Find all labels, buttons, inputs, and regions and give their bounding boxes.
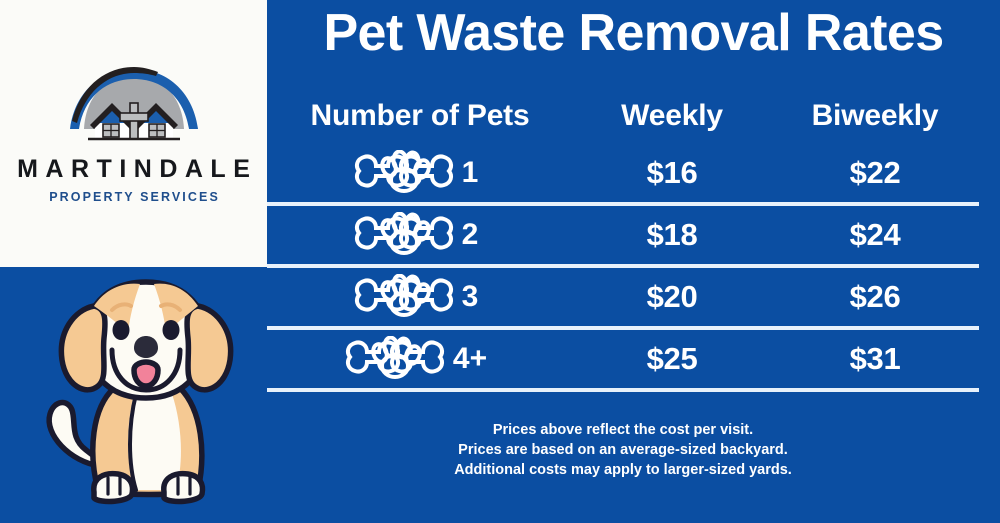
- pets-count: 4+: [453, 344, 487, 374]
- table-row: 3 $20 $26: [267, 268, 979, 330]
- biweekly-price: $22: [771, 155, 979, 191]
- company-logo-panel: MARTINDALE PROPERTY SERVICES: [0, 0, 267, 267]
- table-header-row: Number of Pets Weekly Biweekly: [267, 88, 979, 144]
- paw-and-bone-icon: [339, 336, 451, 382]
- table-row: 4+ $25 $31: [267, 330, 979, 392]
- column-header-weekly: Weekly: [573, 99, 771, 133]
- footnote-line: Prices above reflect the cost per visit.: [267, 420, 979, 440]
- weekly-price: $16: [573, 155, 771, 191]
- table-row: 2 $18 $24: [267, 206, 979, 268]
- pets-count: 1: [462, 158, 479, 188]
- weekly-price: $20: [573, 279, 771, 315]
- pets-count: 3: [462, 282, 479, 312]
- weekly-price: $18: [573, 217, 771, 253]
- biweekly-price: $31: [771, 341, 979, 377]
- logo-wordmark: MARTINDALE: [10, 157, 258, 182]
- page-title: Pet Waste Removal Rates: [267, 5, 1000, 62]
- paw-and-bone-icon: [348, 150, 460, 196]
- paw-and-bone-icon: [348, 212, 460, 258]
- footnote-line: Additional costs may apply to larger-siz…: [267, 460, 979, 480]
- footnote-line: Prices are based on an average-sized bac…: [267, 440, 979, 460]
- biweekly-price: $26: [771, 279, 979, 315]
- weekly-price: $25: [573, 341, 771, 377]
- pets-cell: 2: [267, 212, 573, 258]
- rates-table: Number of Pets Weekly Biweekly: [267, 88, 979, 392]
- table-row: 1 $16 $22: [267, 144, 979, 206]
- pets-cell: 4+: [267, 336, 573, 382]
- poster-content: Pet Waste Removal Rates Number of Pets W…: [267, 0, 1000, 523]
- pets-count: 2: [462, 220, 479, 250]
- paw-and-bone-icon: [348, 274, 460, 320]
- sitting-puppy-illustration: [30, 266, 262, 523]
- logo-tagline: PROPERTY SERVICES: [47, 191, 220, 204]
- column-header-number-of-pets: Number of Pets: [267, 99, 573, 133]
- two-houses-with-cross-icon: [50, 63, 218, 151]
- column-header-biweekly: Biweekly: [771, 99, 979, 133]
- biweekly-price: $24: [771, 217, 979, 253]
- footnotes: Prices above reflect the cost per visit.…: [267, 420, 979, 480]
- pet-waste-removal-rates-poster: MARTINDALE PROPERTY SERVICES: [0, 0, 1000, 523]
- pets-cell: 1: [267, 150, 573, 196]
- pets-cell: 3: [267, 274, 573, 320]
